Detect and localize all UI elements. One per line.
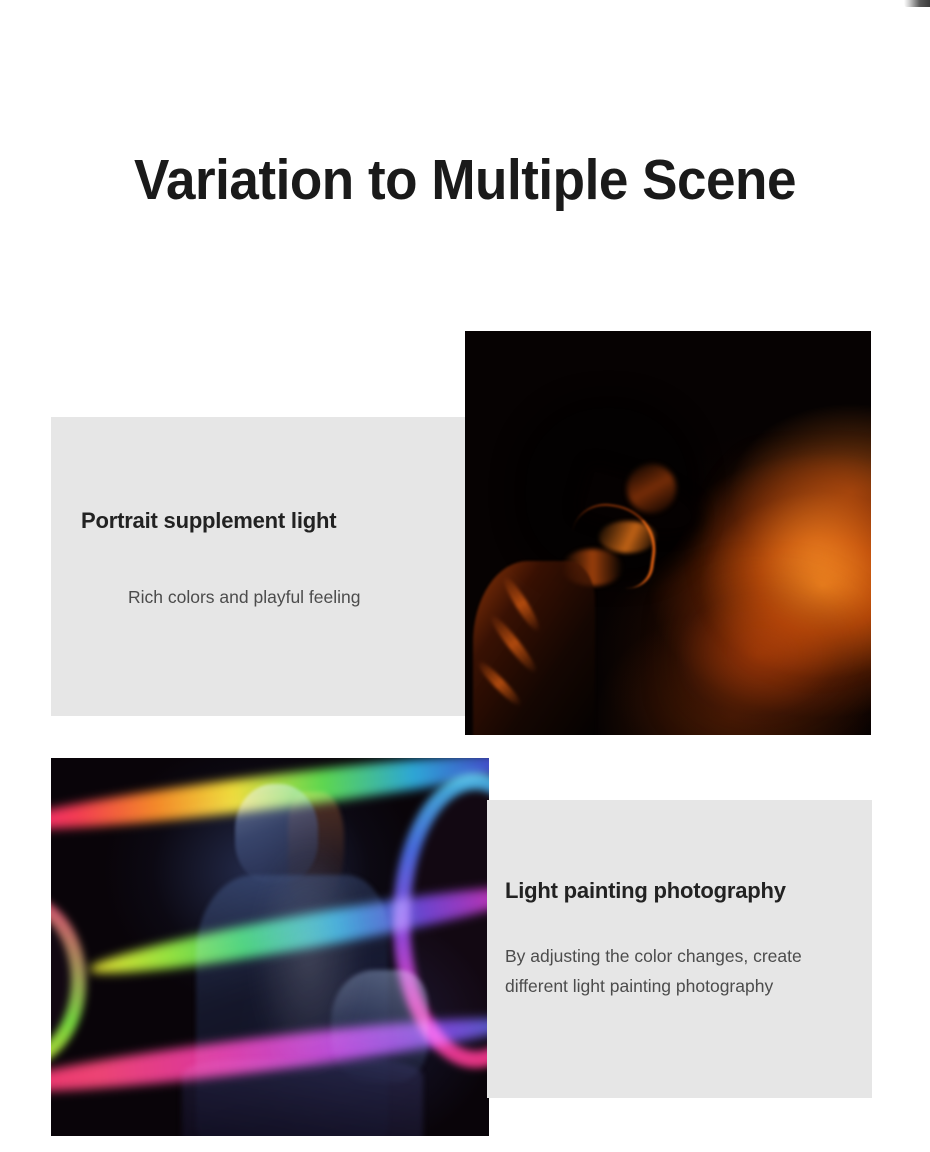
- portrait-supplement-light-panel: Portrait supplement light Rich colors an…: [51, 417, 465, 716]
- portrait-supplement-light-photo: [465, 331, 871, 735]
- portrait-supplement-light-heading: Portrait supplement light: [81, 508, 336, 534]
- page-title: Variation to Multiple Scene: [33, 143, 898, 217]
- orange-smoke-lower: [668, 565, 871, 735]
- light-painting-photography-heading: Light painting photography: [505, 878, 786, 904]
- corner-artifact: [904, 0, 930, 7]
- portrait-supplement-light-body: Rich colors and playful feeling: [128, 582, 361, 612]
- page-root: Variation to Multiple Scene Portrait sup…: [0, 0, 930, 1152]
- shoulder-silhouette: [473, 561, 595, 735]
- light-painting-photography-photo: [51, 758, 489, 1136]
- nose-rim-light: [599, 521, 656, 553]
- light-painting-photography-body: By adjusting the color changes, create d…: [505, 941, 845, 1001]
- cap-rim-light: [627, 464, 676, 512]
- light-glow-haze: [252, 841, 366, 1075]
- light-painting-photography-panel: Light painting photography By adjusting …: [487, 800, 872, 1098]
